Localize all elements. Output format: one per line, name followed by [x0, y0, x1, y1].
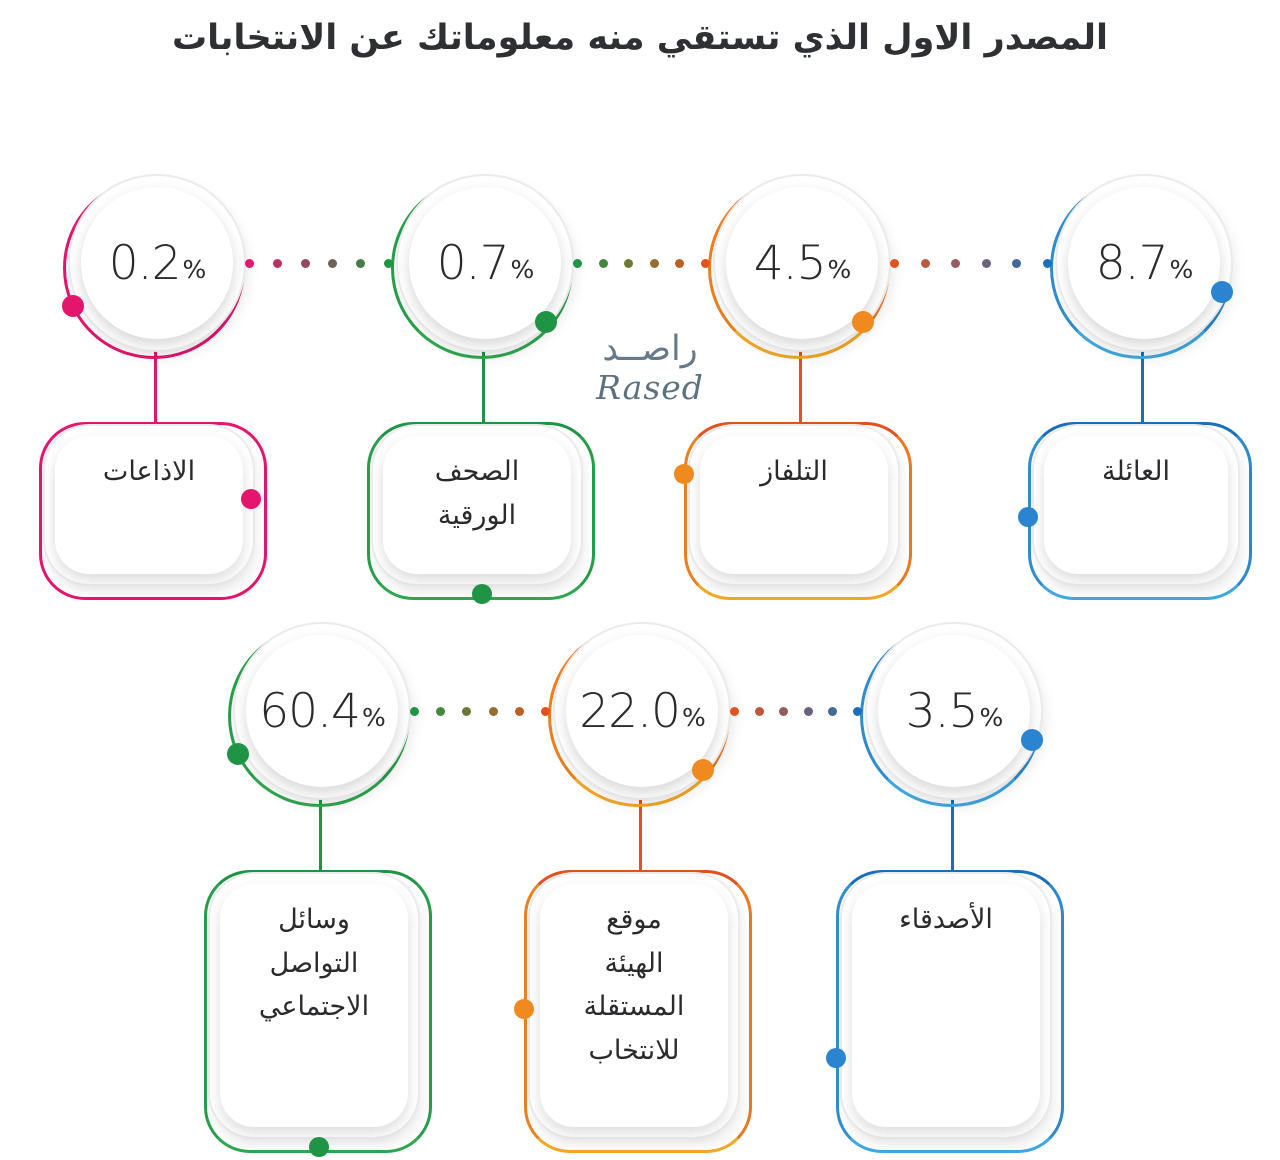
- connector-dot: [921, 259, 930, 268]
- connector-dot: [675, 259, 684, 268]
- percent-value: 0.7%: [409, 187, 561, 339]
- connector-stem: [799, 347, 802, 426]
- percent-number: 3.5: [906, 684, 978, 739]
- label-line: العائلة: [1044, 450, 1228, 494]
- connector-dot: [828, 707, 837, 716]
- percent-value: 8.7%: [1068, 187, 1220, 339]
- circle-knob-dot: [852, 311, 874, 333]
- connector-dot: [541, 707, 550, 716]
- circle-face: [1068, 187, 1220, 339]
- connector-dot: [1043, 259, 1052, 268]
- percent-sign: %: [1169, 255, 1192, 284]
- page-title: المصدر الاول الذي تستقي منه معلوماتك عن …: [0, 18, 1280, 58]
- label-box-text: الأصدقاء: [852, 898, 1040, 942]
- label-box-face: [852, 884, 1040, 1127]
- percent-number: 4.5: [754, 236, 826, 291]
- connector-stem: [639, 795, 642, 874]
- label-box-outline: [836, 870, 1064, 1153]
- label-box-face: [540, 884, 728, 1127]
- label-box-text: العائلة: [1044, 450, 1228, 494]
- percent-value: 0.2%: [81, 187, 233, 339]
- label-line: الأصدقاء: [852, 898, 1040, 942]
- circle-face: [409, 187, 561, 339]
- circle-outline-ring: [548, 625, 730, 807]
- connector-dot: [301, 259, 310, 268]
- connector-dot: [755, 707, 764, 716]
- percent-value: 3.5%: [878, 635, 1030, 787]
- connector-dot: [384, 259, 393, 268]
- label-line: الصحف: [383, 450, 571, 494]
- label-line: الورقية: [383, 494, 571, 538]
- label-box-text: موقعالهيئةالمستقلةللانتخاب: [540, 898, 728, 1073]
- connector-dot: [515, 707, 524, 716]
- percent-sign: %: [979, 703, 1002, 732]
- label-line: الاذاعات: [55, 450, 243, 494]
- connector-dot: [890, 259, 899, 268]
- circle-face: [878, 635, 1030, 787]
- percent-sign: %: [510, 255, 533, 284]
- label-line: التواصل: [220, 942, 408, 986]
- percent-sign: %: [682, 703, 705, 732]
- label-box-knob-dot: [674, 464, 694, 484]
- stat-node-radio[interactable]: 0.2%الاذاعات: [0, 0, 1280, 1160]
- circle-face: [81, 187, 233, 339]
- dotted-connector: [573, 258, 710, 268]
- label-box-knob-dot: [1018, 507, 1038, 527]
- dotted-connector: [890, 258, 1052, 268]
- circle-knob-dot: [535, 311, 557, 333]
- percent-number: 22.0: [579, 684, 680, 739]
- label-box-outline: [39, 422, 267, 600]
- circle-knob-dot: [227, 743, 249, 765]
- circle-outline-ring: [228, 625, 410, 807]
- connector-dot: [489, 707, 498, 716]
- percent-number: 8.7: [1096, 236, 1168, 291]
- dotted-connector: [730, 706, 862, 716]
- infographic-canvas: المصدر الاول الذي تستقي منه معلوماتك عن …: [0, 0, 1280, 1160]
- circle-knob-dot: [1211, 281, 1233, 303]
- label-box-outline: [367, 422, 595, 600]
- circle-knob-dot: [692, 759, 714, 781]
- label-box-text: الصحفالورقية: [383, 450, 571, 537]
- percent-sign: %: [362, 703, 385, 732]
- connector-dot: [624, 259, 633, 268]
- connector-dot: [245, 259, 254, 268]
- label-box-outline: [204, 870, 432, 1153]
- connector-dot: [410, 707, 419, 716]
- connector-dot: [853, 707, 862, 716]
- label-box-knob-dot: [826, 1048, 846, 1068]
- label-box-face: [700, 436, 888, 574]
- label-box-outline: [684, 422, 912, 600]
- connector-dot: [462, 707, 471, 716]
- connector-stem: [482, 347, 485, 426]
- connector-dot: [1012, 259, 1021, 268]
- label-box-outline: [1028, 422, 1252, 600]
- connector-dot: [730, 707, 739, 716]
- circle-knob-dot: [1021, 729, 1043, 751]
- label-box-face: [1044, 436, 1228, 574]
- label-box-text: الاذاعات: [55, 450, 243, 494]
- circle-outline-ring: [1050, 177, 1232, 359]
- stat-node-friends[interactable]: 3.5%الأصدقاء: [0, 0, 1280, 1160]
- connector-dot: [650, 259, 659, 268]
- label-box-outline: [524, 870, 752, 1153]
- stat-node-iec-website[interactable]: 22.0%موقعالهيئةالمستقلةللانتخاب: [0, 0, 1280, 1160]
- connector-dot: [779, 707, 788, 716]
- connector-dot: [273, 259, 282, 268]
- circle-knob-dot: [62, 295, 84, 317]
- stat-node-family[interactable]: 8.7%العائلة: [0, 0, 1280, 1160]
- percent-number: 0.2: [109, 236, 181, 291]
- dotted-connector: [410, 706, 550, 716]
- connector-stem: [951, 795, 954, 874]
- circle-face: [246, 635, 398, 787]
- label-box-knob-dot: [472, 584, 492, 604]
- percent-sign: %: [182, 255, 205, 284]
- percent-value: 4.5%: [726, 187, 878, 339]
- label-box-face: [383, 436, 571, 574]
- connector-dot: [573, 259, 582, 268]
- percent-sign: %: [827, 255, 850, 284]
- circle-face: [726, 187, 878, 339]
- logo-arabic-text: راصــد: [540, 332, 760, 367]
- circle-face: [566, 635, 718, 787]
- connector-stem: [154, 347, 157, 426]
- label-line: الهيئة: [540, 942, 728, 986]
- logo-latin-text: Rased: [540, 367, 760, 408]
- stat-node-print-newspapers[interactable]: 0.7%الصحفالورقية: [0, 0, 1280, 1160]
- percent-number: 0.7: [437, 236, 509, 291]
- connector-dot: [328, 259, 337, 268]
- label-line: وسائل: [220, 898, 408, 942]
- label-line: الاجتماعي: [220, 985, 408, 1029]
- label-line: موقع: [540, 898, 728, 942]
- stat-node-television[interactable]: 4.5%التلفاز: [0, 0, 1280, 1160]
- label-line: المستقلة: [540, 985, 728, 1029]
- percent-value: 60.4%: [246, 635, 398, 787]
- connector-dot: [599, 259, 608, 268]
- stat-node-social-media[interactable]: 60.4%وسائلالتواصلالاجتماعي: [0, 0, 1280, 1160]
- connector-dot: [701, 259, 710, 268]
- circle-outline-ring: [63, 177, 245, 359]
- percent-number: 60.4: [259, 684, 360, 739]
- label-box-text: التلفاز: [700, 450, 888, 494]
- label-line: التلفاز: [700, 450, 888, 494]
- connector-dot: [356, 259, 365, 268]
- label-box-face: [220, 884, 408, 1127]
- label-line: للانتخاب: [540, 1029, 728, 1073]
- label-box-knob-dot: [309, 1137, 329, 1157]
- percent-value: 22.0%: [566, 635, 718, 787]
- connector-dot: [982, 259, 991, 268]
- label-box-face: [55, 436, 243, 574]
- label-box-knob-dot: [241, 489, 261, 509]
- connector-dot: [436, 707, 445, 716]
- label-box-text: وسائلالتواصلالاجتماعي: [220, 898, 408, 1029]
- connector-dot: [804, 707, 813, 716]
- connector-dot: [951, 259, 960, 268]
- connector-stem: [1141, 347, 1144, 426]
- label-box-knob-dot: [514, 999, 534, 1019]
- rased-logo: راصــد Rased: [540, 332, 760, 408]
- dotted-connector: [245, 258, 393, 268]
- circle-outline-ring: [860, 625, 1042, 807]
- connector-stem: [319, 795, 322, 874]
